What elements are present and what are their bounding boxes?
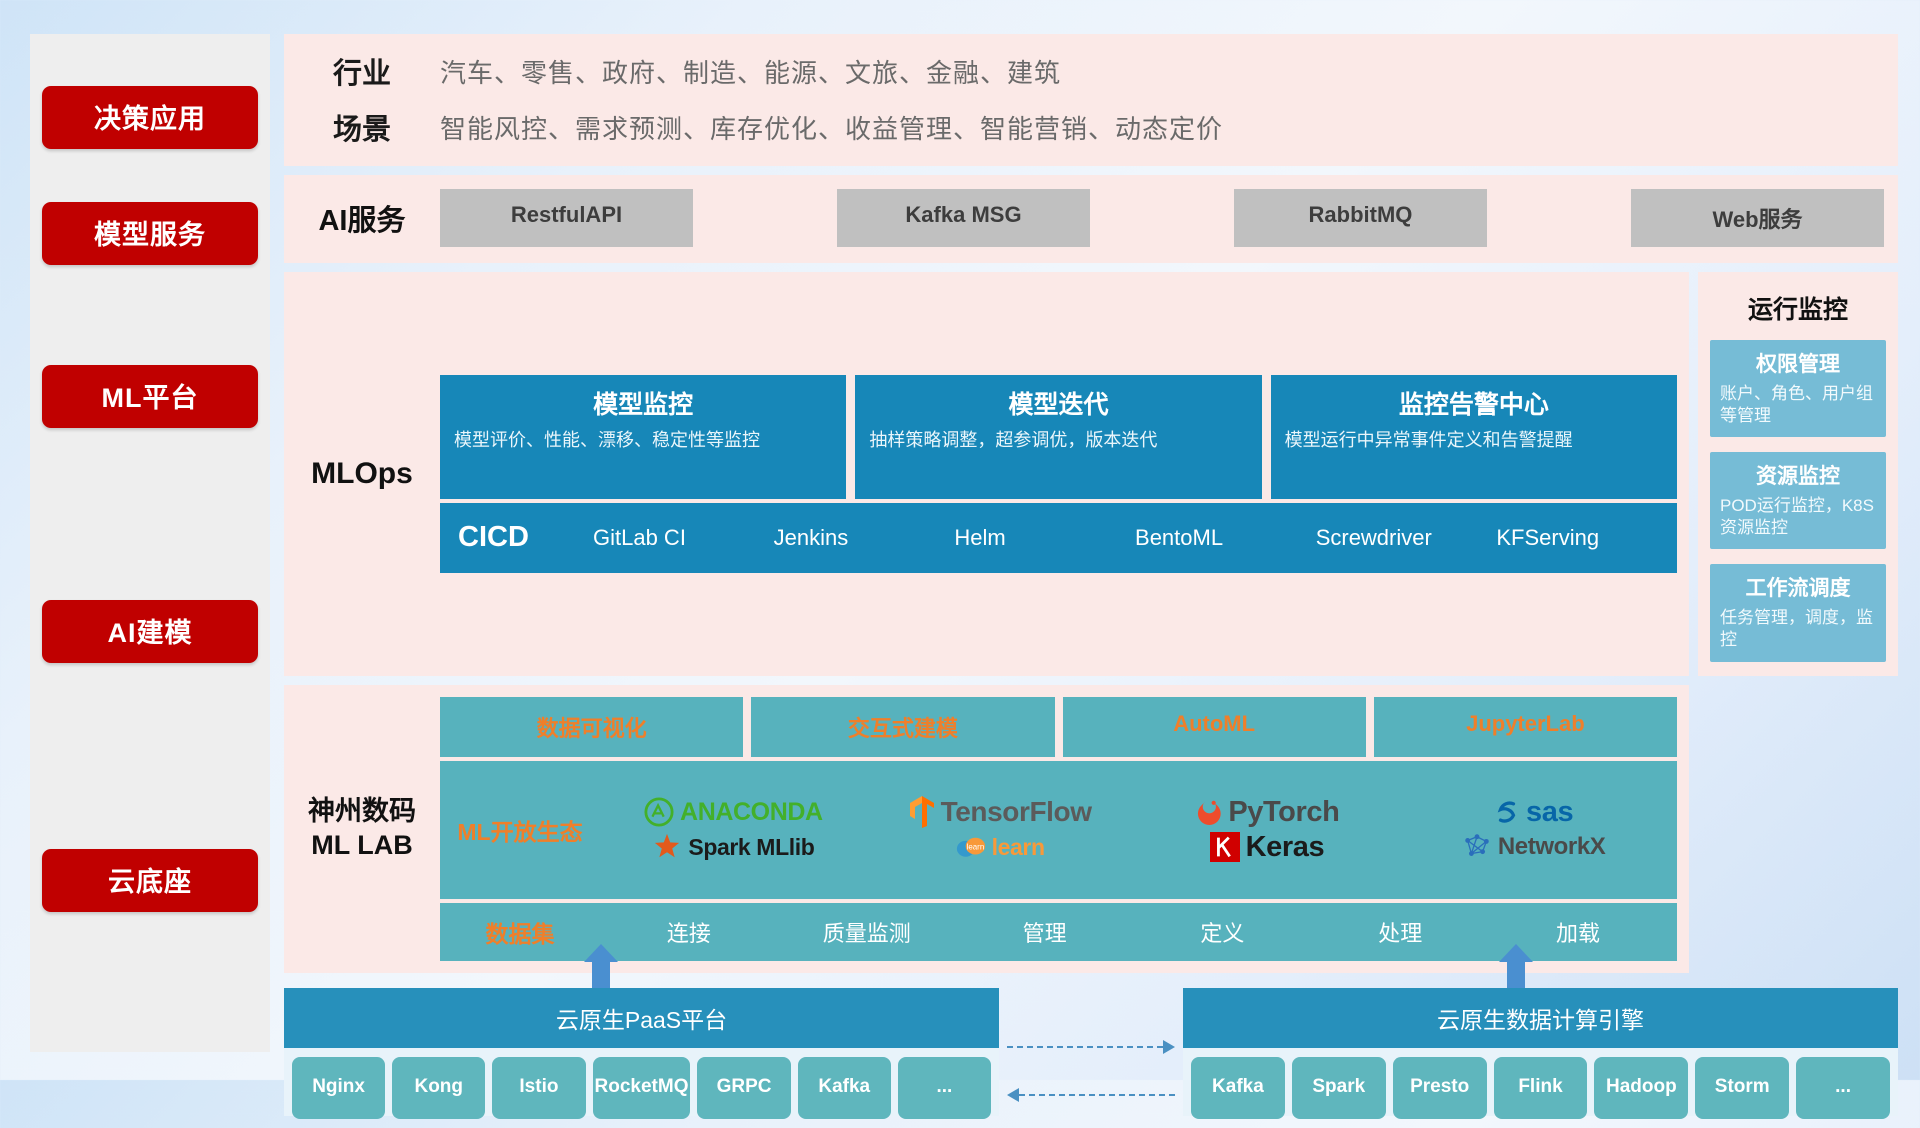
compute-tag-presto[interactable]: Presto xyxy=(1393,1057,1487,1119)
lab-tool-data-visualization[interactable]: 数据可视化 xyxy=(440,697,743,757)
logo-pytorch[interactable]: PyTorch xyxy=(1194,796,1339,829)
paas-tag-kafka[interactable]: Kafka xyxy=(798,1057,891,1119)
cicd-item-gitlab-ci[interactable]: GitLab CI xyxy=(593,526,774,549)
ml-lab-label: 神州数码 ML LAB xyxy=(284,795,440,863)
logo-tensorflow[interactable]: TensorFlow xyxy=(909,796,1092,828)
card-title: 权限管理 xyxy=(1720,348,1876,378)
compute-tag-flink[interactable]: Flink xyxy=(1494,1057,1588,1119)
up-arrow-compute xyxy=(1499,944,1533,988)
ai-service-kafka-msg[interactable]: Kafka MSG xyxy=(837,189,1090,247)
dataset-item-management[interactable]: 管理 xyxy=(956,916,1134,948)
ai-service-rabbitmq[interactable]: RabbitMQ xyxy=(1234,189,1487,247)
compute-tag-list: Kafka Spark Presto Flink Hadoop Storm ..… xyxy=(1183,1048,1898,1128)
ai-service-row: AI服务 RestfulAPI Kafka MSG RabbitMQ Web服务 xyxy=(284,175,1898,263)
logo-label: PyTorch xyxy=(1228,796,1339,829)
logo-sas[interactable]: sas xyxy=(1494,796,1573,829)
lab-tool-automl[interactable]: AutoML xyxy=(1063,697,1366,757)
ml-open-ecosystem: ML开放生态 ANACONDA xyxy=(440,761,1677,899)
sidebar-item-model-service[interactable]: 模型服务 xyxy=(42,202,258,265)
paas-platform-title: 云原生PaaS平台 xyxy=(284,988,999,1048)
compute-tag-hadoop[interactable]: Hadoop xyxy=(1594,1057,1688,1119)
logo-label: ANACONDA xyxy=(680,798,823,827)
logo-label: Keras xyxy=(1246,831,1325,864)
card-desc: 任务管理，调度，监控 xyxy=(1720,607,1876,651)
monitor-card-resource[interactable]: 资源监控 POD运行监控，K8S资源监控 xyxy=(1710,452,1886,549)
layer-legend-sidebar: 决策应用 模型服务 ML平台 AI建模 云底座 xyxy=(30,34,270,1052)
sidebar-item-cloud-base[interactable]: 云底座 xyxy=(42,849,258,912)
runtime-monitor-panel: 运行监控 权限管理 账户、角色、用户组等管理 资源监控 POD运行监控，K8S资… xyxy=(1698,272,1898,676)
lab-tool-jupyterlab[interactable]: JupyterLab xyxy=(1374,697,1677,757)
card-title: 模型监控 xyxy=(454,385,832,421)
compute-engine-title: 云原生数据计算引擎 xyxy=(1183,988,1898,1048)
cloud-foundation-row: 云原生PaaS平台 Nginx Kong Istio RocketMQ GRPC… xyxy=(284,988,1898,1116)
industry-label: 行业 xyxy=(284,50,440,92)
keras-icon xyxy=(1210,832,1240,862)
pytorch-icon xyxy=(1194,797,1222,827)
dataset-item-definition[interactable]: 定义 xyxy=(1133,916,1311,948)
ml-lab-tools: 数据可视化 交互式建模 AutoML JupyterLab xyxy=(440,697,1677,757)
bidirectional-link xyxy=(999,988,1183,1116)
logo-label: sas xyxy=(1526,796,1573,829)
card-desc: 抽样策略调整，超参调优，版本迭代 xyxy=(869,428,1247,452)
scenario-label: 场景 xyxy=(284,106,440,148)
logo-label: Spark MLlib xyxy=(688,834,814,861)
dataset-item-quality-monitoring[interactable]: 质量监测 xyxy=(778,916,956,948)
compute-engine-block: 云原生数据计算引擎 Kafka Spark Presto Flink Hadoo… xyxy=(1183,988,1898,1116)
card-desc: 模型运行中异常事件定义和告警提醒 xyxy=(1285,428,1663,452)
compute-tag-more[interactable]: ... xyxy=(1796,1057,1890,1119)
paas-tag-kong[interactable]: Kong xyxy=(392,1057,485,1119)
compute-tag-storm[interactable]: Storm xyxy=(1695,1057,1789,1119)
industry-line: 行业 汽车、零售、政府、制造、能源、文旅、金融、建筑 xyxy=(284,50,1898,92)
dataset-item-connect[interactable]: 连接 xyxy=(600,916,778,948)
card-title: 监控告警中心 xyxy=(1285,385,1663,421)
card-title: 工作流调度 xyxy=(1720,572,1876,602)
arrow-right xyxy=(1007,1040,1175,1054)
logo-scikit-learn[interactable]: learn learn xyxy=(956,833,1045,861)
logo-label: TensorFlow xyxy=(941,796,1092,828)
mlops-section: MLOps 模型监控 模型评价、性能、漂移、稳定性等监控 模型迭代 抽样策略调整… xyxy=(284,272,1689,676)
logo-label: NetworkX xyxy=(1498,833,1606,861)
compute-tag-spark[interactable]: Spark xyxy=(1292,1057,1386,1119)
ml-lab-label-line1: 神州数码 xyxy=(284,795,440,829)
monitor-card-workflow[interactable]: 工作流调度 任务管理，调度，监控 xyxy=(1710,564,1886,661)
card-desc: 账户、角色、用户组等管理 xyxy=(1720,383,1876,427)
paas-platform-block: 云原生PaaS平台 Nginx Kong Istio RocketMQ GRPC… xyxy=(284,988,999,1116)
ml-lab-label-line2: ML LAB xyxy=(284,829,440,863)
mlops-card-alert-center[interactable]: 监控告警中心 模型运行中异常事件定义和告警提醒 xyxy=(1271,375,1677,499)
cicd-label: CICD xyxy=(458,521,593,554)
dataset-label: 数据集 xyxy=(440,915,600,949)
paas-tag-list: Nginx Kong Istio RocketMQ GRPC Kafka ... xyxy=(284,1048,999,1128)
networkx-icon xyxy=(1462,833,1492,861)
ai-service-label: AI服务 xyxy=(284,197,440,239)
dataset-item-processing[interactable]: 处理 xyxy=(1311,916,1489,948)
sidebar-item-decision-app[interactable]: 决策应用 xyxy=(42,86,258,149)
arrow-left xyxy=(1007,1088,1175,1102)
ml-lab-row: 神州数码 ML LAB 数据可视化 交互式建模 AutoML JupyterLa… xyxy=(284,685,1898,973)
anaconda-icon xyxy=(644,797,674,827)
logo-keras[interactable]: Keras xyxy=(1210,831,1325,864)
sidebar-item-ml-platform[interactable]: ML平台 xyxy=(42,365,258,428)
ai-service-buttons: RestfulAPI Kafka MSG RabbitMQ Web服务 xyxy=(440,189,1898,247)
card-desc: 模型评价、性能、漂移、稳定性等监控 xyxy=(454,428,832,452)
svg-text:learn: learn xyxy=(966,843,984,852)
paas-tag-nginx[interactable]: Nginx xyxy=(292,1057,385,1119)
scenario-line: 场景 智能风控、需求预测、库存优化、收益管理、智能营销、动态定价 xyxy=(284,106,1898,148)
cicd-item-helm[interactable]: Helm xyxy=(954,526,1135,549)
cicd-item-jenkins[interactable]: Jenkins xyxy=(774,526,955,549)
domain-scenario-row: 行业 汽车、零售、政府、制造、能源、文旅、金融、建筑 场景 智能风控、需求预测、… xyxy=(284,34,1898,166)
mlops-label: MLOps xyxy=(284,457,440,491)
scenario-values: 智能风控、需求预测、库存优化、收益管理、智能营销、动态定价 xyxy=(440,109,1223,146)
compute-tag-kafka[interactable]: Kafka xyxy=(1191,1057,1285,1119)
cicd-row: CICD GitLab CI Jenkins Helm BentoML Scre… xyxy=(440,503,1677,573)
card-title: 模型迭代 xyxy=(869,385,1247,421)
monitor-panel-spacer xyxy=(1698,685,1898,973)
eco-label: ML开放生态 xyxy=(440,813,600,847)
card-title: 资源监控 xyxy=(1720,460,1876,490)
logo-spark-mllib[interactable]: Spark MLlib xyxy=(652,833,814,861)
ml-lab-section: 神州数码 ML LAB 数据可视化 交互式建模 AutoML JupyterLa… xyxy=(284,685,1689,973)
card-desc: POD运行监控，K8S资源监控 xyxy=(1720,495,1876,539)
paas-tag-more[interactable]: ... xyxy=(898,1057,991,1119)
logo-anaconda[interactable]: ANACONDA xyxy=(644,797,823,827)
spark-icon xyxy=(652,833,682,861)
ai-service-web[interactable]: Web服务 xyxy=(1631,189,1884,247)
sidebar-item-ai-modeling[interactable]: AI建模 xyxy=(42,600,258,663)
main-column: 行业 汽车、零售、政府、制造、能源、文旅、金融、建筑 场景 智能风控、需求预测、… xyxy=(284,34,1898,1052)
lab-tool-interactive-modeling[interactable]: 交互式建模 xyxy=(751,697,1054,757)
monitor-card-permission[interactable]: 权限管理 账户、角色、用户组等管理 xyxy=(1710,340,1886,437)
industry-values: 汽车、零售、政府、制造、能源、文旅、金融、建筑 xyxy=(440,53,1061,90)
diagram-root: 决策应用 模型服务 ML平台 AI建模 云底座 行业 汽车、零售、政府、制造、能… xyxy=(0,0,1920,1080)
paas-tag-grpc[interactable]: GRPC xyxy=(697,1057,790,1119)
dataset-row: 数据集 连接 质量监测 管理 定义 处理 加载 xyxy=(440,903,1677,961)
paas-tag-rocketmq[interactable]: RocketMQ xyxy=(593,1057,691,1119)
up-arrow-paas xyxy=(584,944,618,988)
cicd-item-kfserving[interactable]: KFServing xyxy=(1496,526,1677,549)
cicd-item-bentoml[interactable]: BentoML xyxy=(1135,526,1316,549)
paas-tag-istio[interactable]: Istio xyxy=(492,1057,585,1119)
monitor-panel-title: 运行监控 xyxy=(1710,290,1886,326)
mlops-card-model-iteration[interactable]: 模型迭代 抽样策略调整，超参调优，版本迭代 xyxy=(855,375,1261,499)
ai-service-restfulapi[interactable]: RestfulAPI xyxy=(440,189,693,247)
sas-icon xyxy=(1494,799,1520,825)
scikit-learn-icon: learn xyxy=(956,833,986,861)
cicd-item-screwdriver[interactable]: Screwdriver xyxy=(1316,526,1497,549)
logo-networkx[interactable]: NetworkX xyxy=(1462,833,1606,861)
logo-label: learn xyxy=(992,834,1045,861)
mlops-and-monitor-row: MLOps 模型监控 模型评价、性能、漂移、稳定性等监控 模型迭代 抽样策略调整… xyxy=(284,272,1898,676)
tensorflow-icon xyxy=(909,796,935,828)
mlops-card-model-monitoring[interactable]: 模型监控 模型评价、性能、漂移、稳定性等监控 xyxy=(440,375,846,499)
